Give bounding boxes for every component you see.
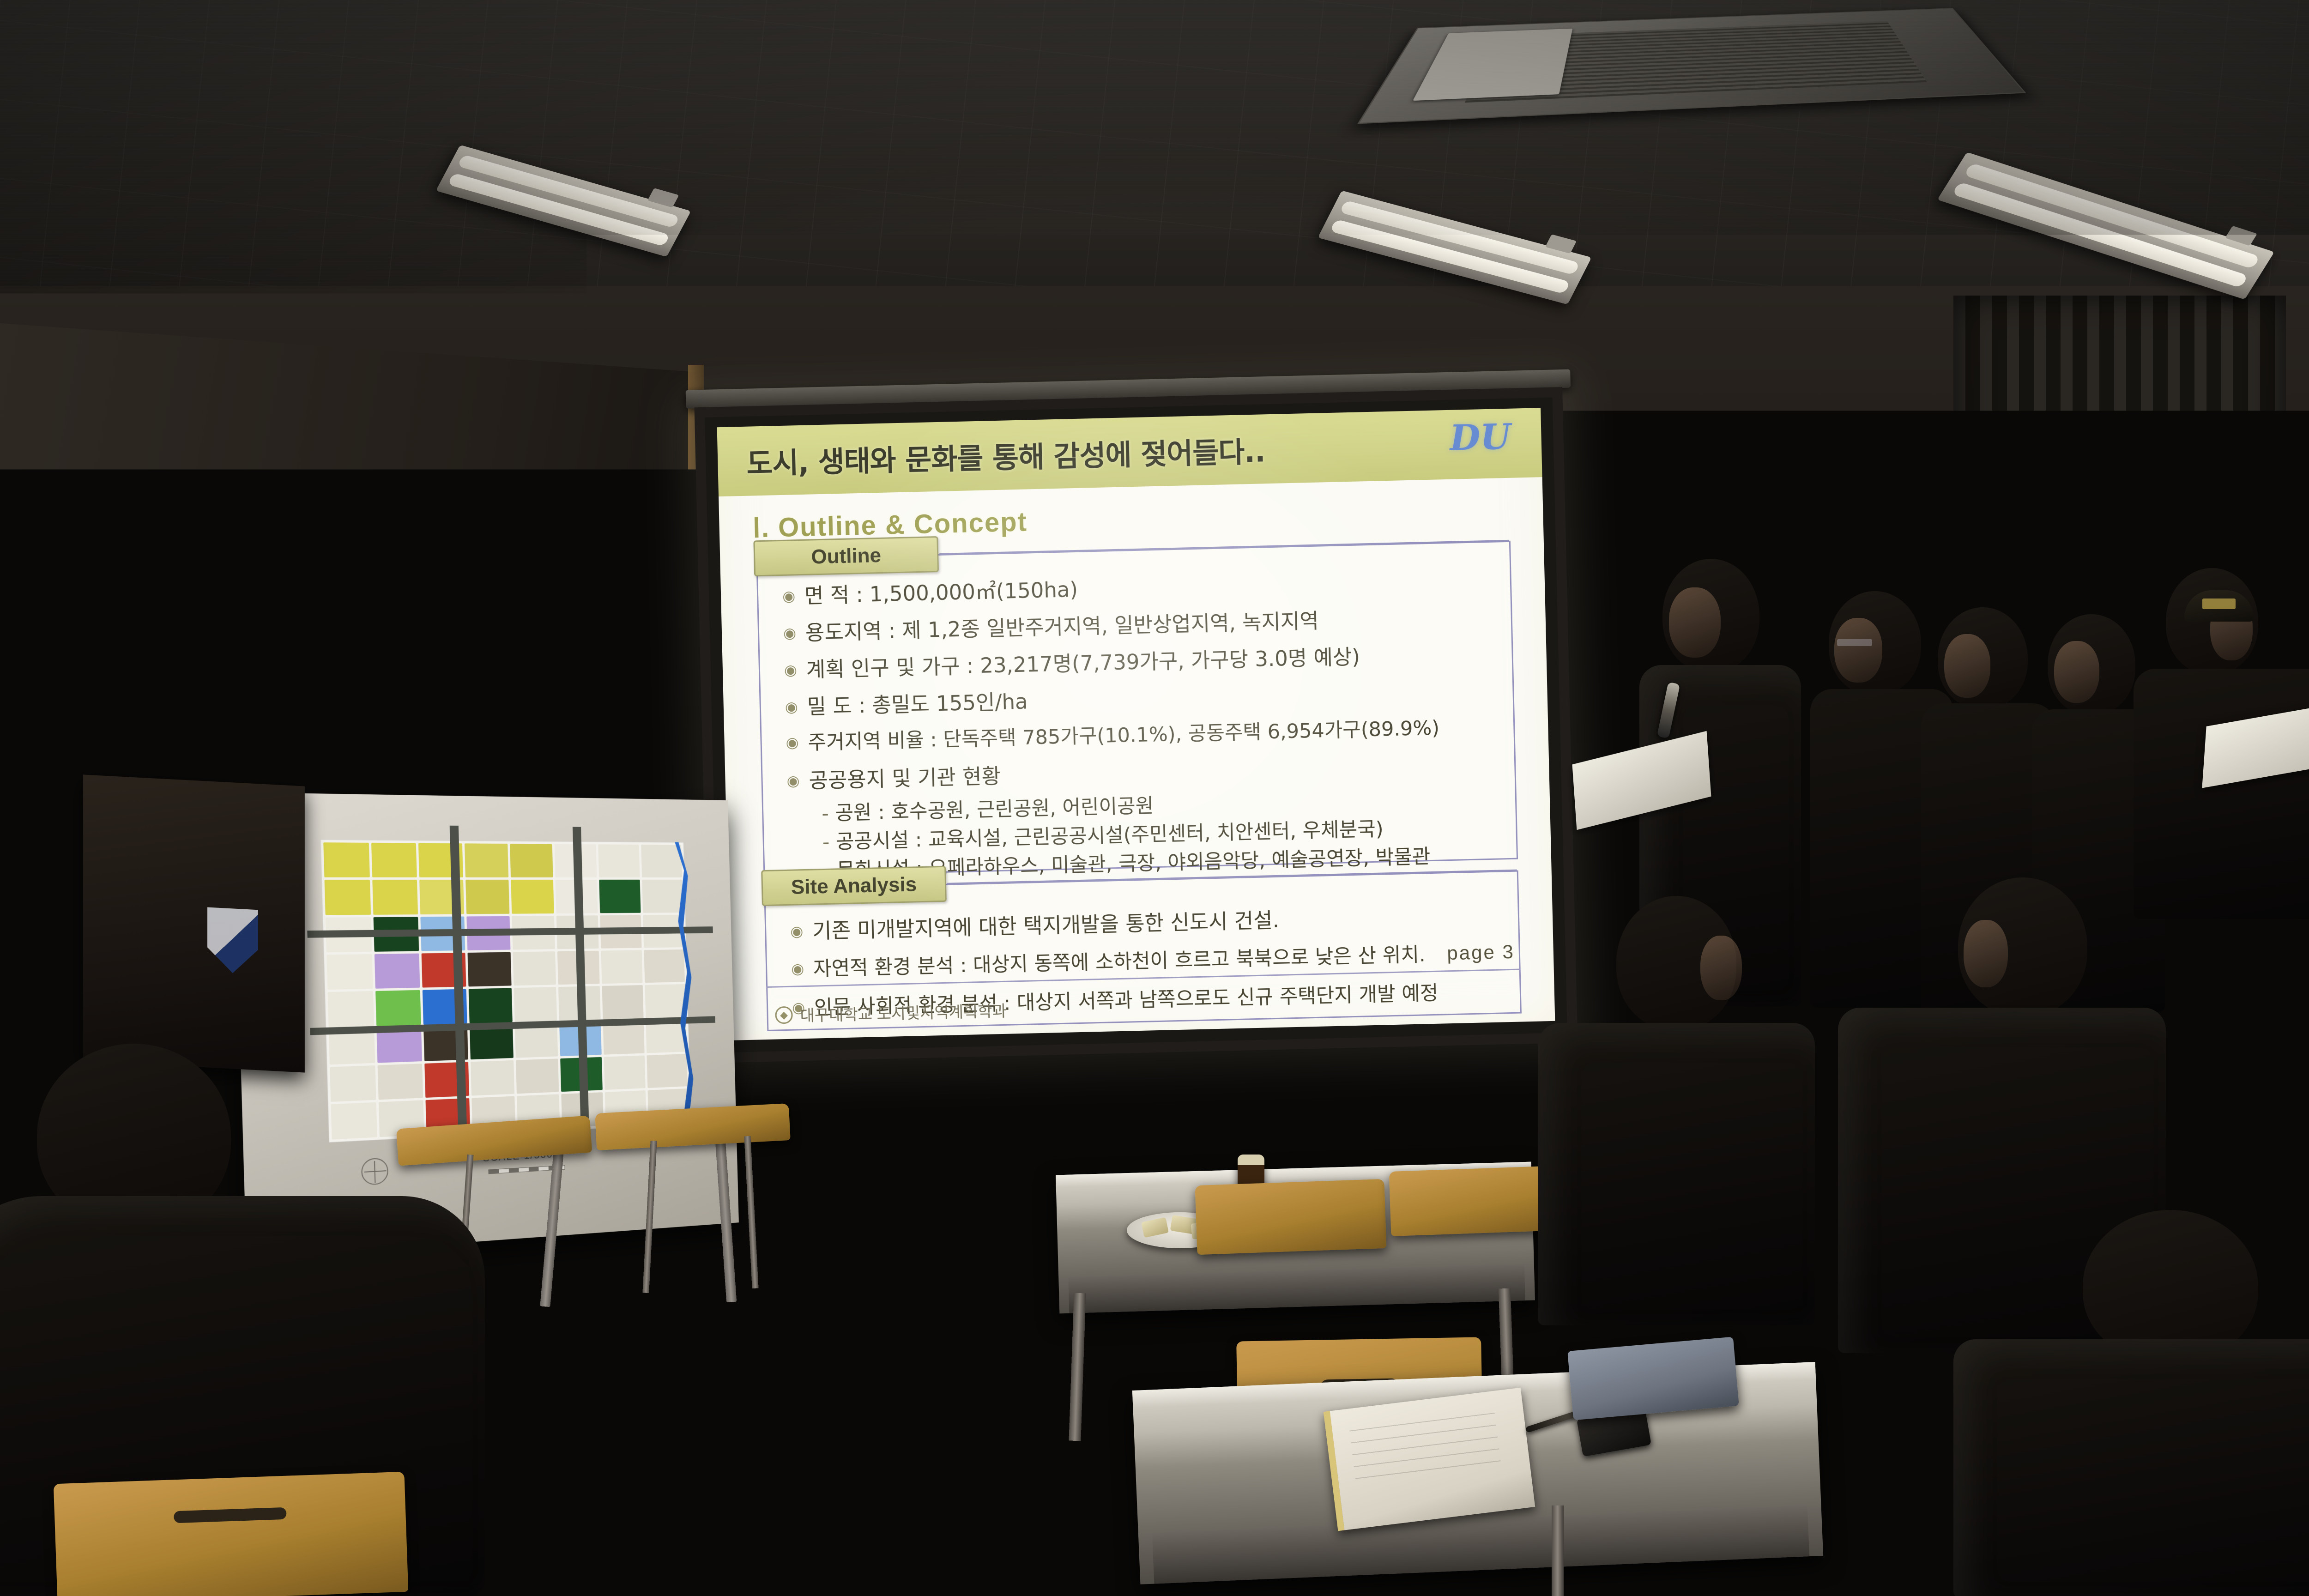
- map-parcel: [372, 880, 418, 914]
- map-parcel: [323, 842, 370, 877]
- outline-bullet-4: 밀 도 : 총밀도 155인/ha: [785, 685, 1028, 720]
- cap-logo-icon: [2202, 598, 2236, 609]
- map-parcel: [645, 984, 686, 1018]
- audience-head: [1616, 896, 1736, 1030]
- audience-torso: [1538, 1023, 1815, 1325]
- map-parcel: [511, 880, 554, 913]
- map-parcel: [327, 991, 374, 1027]
- outline-chip-rule: [939, 540, 1509, 555]
- team-member-head: [1829, 591, 1921, 695]
- audience-face: [1700, 936, 1742, 1000]
- slide-page-number: page 3: [1447, 941, 1515, 964]
- outline-bullet-3: 계획 인구 및 가구 : 23,217명(7,739가구, 가구당 3.0명 예…: [784, 640, 1360, 683]
- map-parcel: [324, 880, 371, 915]
- screen-border: 도시, 생태와 문화를 통해 감성에 젖어들다.. DU Ⅰ. Outline …: [695, 387, 1578, 1063]
- classroom-scene: 도시, 생태와 문화를 통해 감성에 젖어들다.. DU Ⅰ. Outline …: [0, 0, 2309, 1596]
- map-parcel: [513, 951, 556, 985]
- chair[interactable]: [1195, 1179, 1387, 1255]
- map-parcel: [371, 843, 417, 877]
- projection-screen: 도시, 생태와 문화를 통해 감성에 젖어들다.. DU Ⅰ. Outline …: [695, 387, 1578, 1063]
- outline-bullet-1: 면 적 : 1,500,000㎡(150ha): [782, 573, 1078, 610]
- map-parcel: [467, 952, 511, 987]
- site-bullet-2: 자연적 환경 분석 : 대상지 동쪽에 소하천이 흐르고 북북으로 낮은 산 위…: [791, 938, 1426, 982]
- snack-item: [1141, 1217, 1169, 1238]
- map-parcel: [375, 990, 421, 1026]
- du-logo: DU: [1449, 416, 1511, 459]
- site-bullet-1: 기존 미개발지역에 대한 택지개발을 통한 신도시 건설.: [790, 903, 1279, 945]
- map-parcel: [641, 845, 682, 877]
- outline-panel: Outline 면 적 : 1,500,000㎡(150ha) 용도지역 : 제…: [756, 541, 1518, 877]
- partition-rail: [1889, 813, 2309, 828]
- lectern: [83, 774, 305, 1072]
- team-member-head: [1938, 607, 2028, 709]
- map-parcel: [642, 880, 683, 913]
- team-member-face: [2054, 641, 2099, 703]
- ac-vane: [1413, 29, 1572, 101]
- team-member-head: [2048, 614, 2135, 715]
- audience-member-center: [1533, 896, 1819, 1325]
- slide-header-title: 도시, 생태와 문화를 통해 감성에 젖어들다..: [746, 428, 1265, 482]
- map-parcel: [510, 844, 553, 877]
- map-parcel: [465, 843, 508, 877]
- map-parcel: [465, 880, 509, 914]
- map-parcel: [647, 1054, 688, 1088]
- page-label: page: [1447, 941, 1496, 964]
- map-parcel: [601, 950, 642, 984]
- wall-control-panel[interactable]: [2032, 466, 2115, 563]
- site-analysis-chip: Site Analysis: [761, 866, 947, 906]
- presenter-face: [1669, 587, 1721, 658]
- map-parcel: [514, 987, 557, 1022]
- chair[interactable]: [54, 1472, 409, 1596]
- presenter-head: [1662, 559, 1759, 672]
- map-parcel: [604, 1055, 646, 1090]
- presentation-slide: 도시, 생태와 문화를 통해 감성에 젖어들다.. DU Ⅰ. Outline …: [717, 408, 1555, 1040]
- audience-member-far-right: [1953, 1210, 2309, 1596]
- university-crest-icon: [207, 907, 258, 974]
- map-parcel: [598, 844, 640, 877]
- map-parcel: [602, 985, 643, 1019]
- status-led-icon: [2045, 539, 2053, 546]
- notepad: [1324, 1388, 1535, 1531]
- map-parcel: [375, 953, 420, 989]
- page-value: 3: [1502, 941, 1515, 963]
- chair-handle-slot: [174, 1507, 286, 1523]
- outline-bullet-6: 공공용지 및 기관 현황: [786, 759, 1001, 794]
- outline-bullet-2: 용도지역 : 제 1,2종 일반주거지역, 일반상업지역, 녹지지역: [783, 604, 1319, 647]
- map-parcel: [599, 880, 641, 913]
- binder: [1567, 1337, 1739, 1421]
- glasses-icon: [1837, 639, 1872, 646]
- team-member-face: [1944, 634, 1990, 698]
- map-parcel: [644, 949, 685, 983]
- map-parcel: [468, 988, 512, 1023]
- team-member-face: [1834, 618, 1882, 683]
- desk-leg: [1552, 1505, 1564, 1596]
- whiteboard-left: [342, 497, 734, 810]
- notepad-ruled-lines: [1350, 1413, 1501, 1485]
- outline-bullet-5: 주거지역 비율 : 단독주택 785가구(10.1%), 공동주택 6,954가…: [786, 712, 1440, 756]
- footer-bullet-icon: ◆: [775, 1006, 793, 1024]
- outline-chip: Outline: [753, 536, 939, 576]
- map-parcel: [326, 954, 373, 990]
- map-parcel: [516, 1058, 559, 1094]
- audience-torso: [1953, 1339, 2309, 1596]
- slide-header-band: 도시, 생태와 문화를 통해 감성에 젖어들다..: [717, 408, 1542, 496]
